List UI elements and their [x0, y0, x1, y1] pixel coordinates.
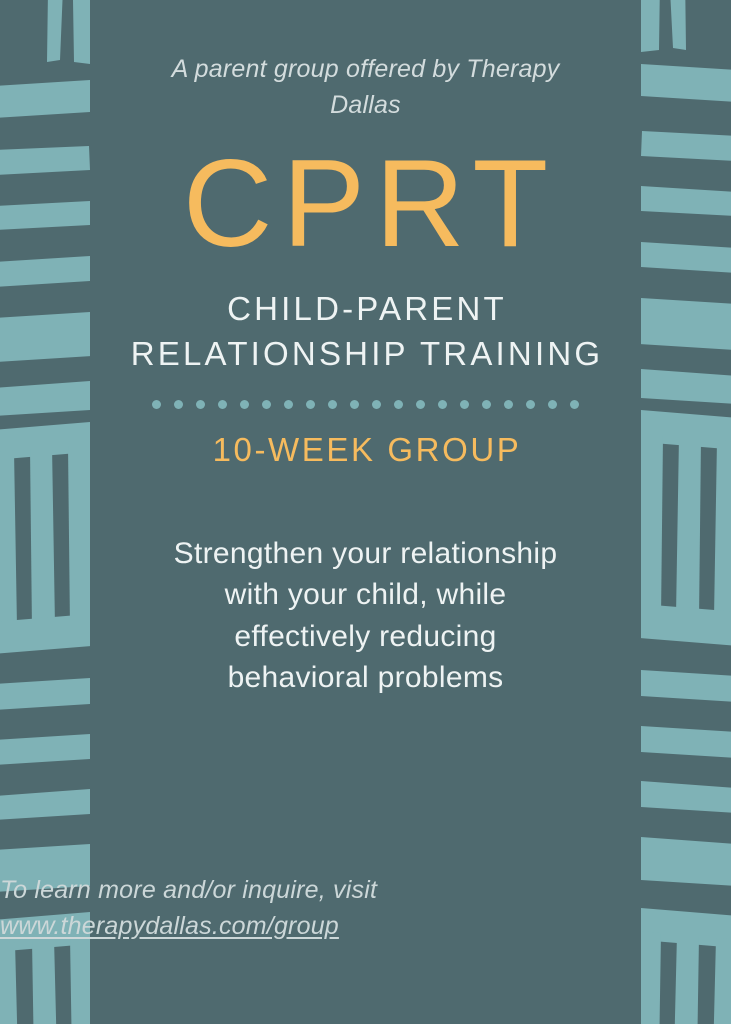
dot-divider	[152, 399, 579, 411]
divider-dot	[416, 400, 425, 409]
decorative-border-left	[0, 0, 90, 1024]
program-length-label: 10-WEEK GROUP	[210, 431, 522, 469]
divider-dot	[152, 400, 161, 409]
divider-dot	[174, 400, 183, 409]
decorative-border-right	[641, 0, 731, 1024]
divider-dot	[570, 400, 579, 409]
divider-dot	[196, 400, 205, 409]
poster-content: A parent group offered by Therapy Dallas…	[90, 0, 641, 1024]
footer: To learn more and/or inquire, visit www.…	[0, 873, 731, 944]
divider-dot	[504, 400, 513, 409]
website-link[interactable]: www.therapydallas.com/group	[0, 909, 731, 945]
kicker-text: A parent group offered by Therapy Dallas	[156, 52, 576, 123]
subtitle-text: CHILD-PARENT RELATIONSHIP TRAINING	[104, 287, 627, 377]
divider-dot	[460, 400, 469, 409]
description-text: Strengthen your relationship with your c…	[166, 533, 566, 699]
page-title: CPRT	[173, 147, 558, 261]
divider-dot	[284, 400, 293, 409]
brush-pattern-icon	[0, 0, 90, 1024]
brush-pattern-icon	[641, 0, 731, 1024]
poster-canvas: A parent group offered by Therapy Dallas…	[0, 0, 731, 1024]
divider-dot	[306, 400, 315, 409]
divider-dot	[262, 400, 271, 409]
divider-dot	[218, 400, 227, 409]
divider-dot	[240, 400, 249, 409]
divider-dot	[372, 400, 381, 409]
divider-dot	[548, 400, 557, 409]
divider-dot	[394, 400, 403, 409]
divider-dot	[526, 400, 535, 409]
divider-dot	[328, 400, 337, 409]
footer-lead-text: To learn more and/or inquire, visit	[0, 873, 731, 909]
divider-dot	[350, 400, 359, 409]
divider-dot	[438, 400, 447, 409]
divider-dot	[482, 400, 491, 409]
